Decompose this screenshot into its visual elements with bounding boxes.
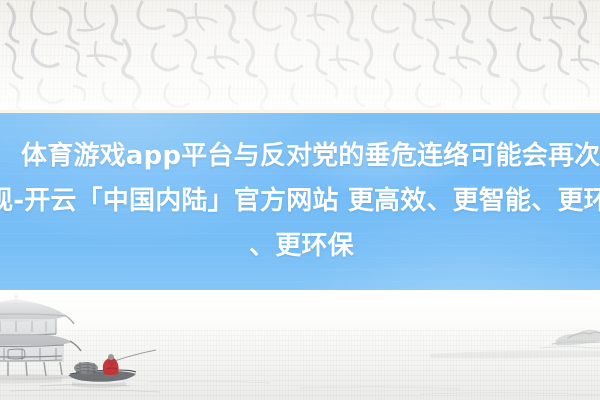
paper-bottom-fade xyxy=(0,0,600,114)
landscape-top-fade xyxy=(0,290,600,304)
mist-overlay xyxy=(0,290,600,400)
calligraphy-paper-band xyxy=(0,0,600,114)
promo-banner: 体育游戏app平台与反对党的垂危连络可能会再次 现-开云「中国内陆」官方网站 更… xyxy=(0,0,600,400)
headline-line-1: 体育游戏app平台与反对党的垂危连络可能会再次 xyxy=(0,134,600,179)
ink-wash-landscape xyxy=(0,290,600,400)
headline-line-3: 、更环保 xyxy=(0,224,600,269)
headline-blue-band: 体育游戏app平台与反对党的垂危连络可能会再次 现-开云「中国内陆」官方网站 更… xyxy=(0,113,600,290)
headline-line-2: 现-开云「中国内陆」官方网站 更高效、更智能、更环 xyxy=(0,179,600,224)
headline-text-block: 体育游戏app平台与反对党的垂危连络可能会再次 现-开云「中国内陆」官方网站 更… xyxy=(0,113,600,290)
